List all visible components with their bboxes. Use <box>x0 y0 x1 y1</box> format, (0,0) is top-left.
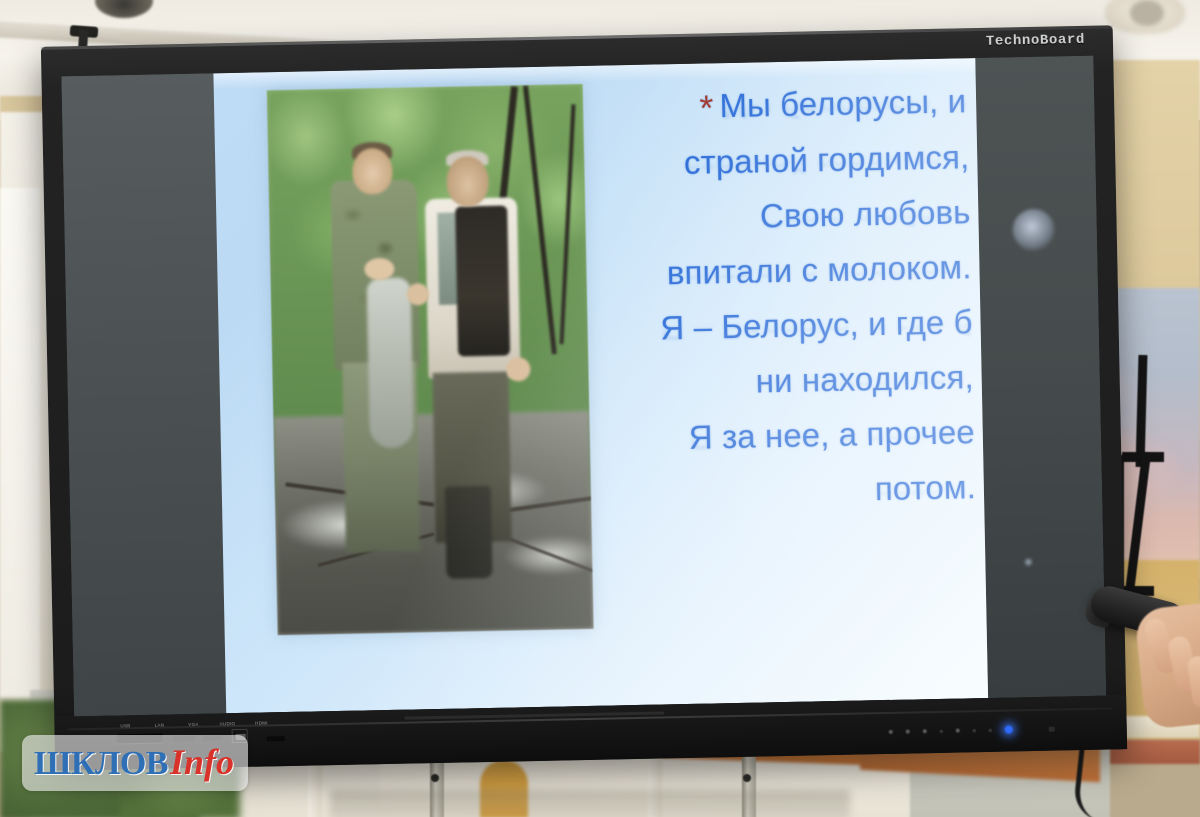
photo-fish <box>367 277 414 448</box>
status-led-6 <box>973 729 976 732</box>
slide-text-block: *Мы белорусы, иМы белорусы, и страной го… <box>586 82 977 533</box>
slide-line-8: потом.потом. <box>594 470 977 511</box>
slide-line-3: Свою любовьСвою любовь <box>588 195 971 236</box>
ir-receiver-window <box>1049 727 1055 732</box>
photo-person-right-vest <box>455 206 510 357</box>
port-label-hdmi: HDMI <box>250 720 272 725</box>
watermark-text-primary: ШКЛОВ <box>34 745 168 783</box>
status-led-4 <box>940 729 943 732</box>
status-led-1 <box>889 730 893 734</box>
slide-line-4: впитали с молоком.впитали с молоком. <box>589 250 972 291</box>
slide-line-6-text: ни находился, <box>755 358 974 399</box>
power-led[interactable] <box>1005 725 1013 733</box>
presentation-slide[interactable]: *Мы белорусы, иМы белорусы, и страной го… <box>213 58 988 713</box>
slide-line-6: ни находился,ни находился, <box>591 360 974 401</box>
slide-line-4-text: впитали с молоком. <box>667 248 972 291</box>
photo-person-right-head <box>446 156 489 207</box>
board-bezel: TechnoBoard <box>41 25 1127 770</box>
interactive-whiteboard[interactable]: TechnoBoard <box>41 25 1127 770</box>
slide-line-2: страной гордимся,страной гордимся, <box>587 140 970 181</box>
slide-line-1: *Мы белорусы, иМы белорусы, и <box>586 82 969 126</box>
slide-line-3-text: Свою любовь <box>760 193 971 234</box>
slide-line-5-text: Я – Белорус, и где б <box>660 303 973 346</box>
stand-base-shadow <box>330 790 850 817</box>
display-panel[interactable]: *Мы белорусы, иМы белорусы, и страной го… <box>61 56 1106 717</box>
status-led-3 <box>923 729 927 733</box>
port-label-lan: LAN <box>148 722 170 727</box>
slide-line-7-text: Я за нее, а прочее <box>688 413 975 456</box>
ceiling-light-bulb-right <box>1130 0 1164 26</box>
port-label-audio: AUDIO <box>216 721 238 726</box>
status-led-2 <box>906 730 910 734</box>
port-slot-hdmi[interactable] <box>267 736 285 741</box>
photo-person-left-head <box>352 148 393 195</box>
watermark-text-secondary: Info <box>170 741 234 783</box>
slide-line-2-text: страной гордимся, <box>684 138 970 181</box>
slide-photo <box>267 84 594 635</box>
indicator-led-row <box>889 725 1013 735</box>
slide-line-5: Я – Белорус, и где бЯ – Белорус, и где б <box>590 305 973 346</box>
port-label-usb: USB <box>114 723 136 728</box>
letterbox-right <box>975 56 1106 698</box>
slide-line-1-text: Мы белорусы, и <box>719 82 966 124</box>
status-led-7 <box>989 728 992 731</box>
wall-left-panel <box>0 188 40 698</box>
slide-line-8-text: потом. <box>874 468 976 507</box>
photo-person-right-boot <box>445 486 493 579</box>
port-label-vga: VGA <box>182 722 204 727</box>
slide-line-7: Я за нее, а прочееЯ за нее, а прочее <box>593 415 976 456</box>
letterbox-left <box>61 73 226 716</box>
power-cable <box>1072 744 1114 817</box>
status-led-5 <box>956 729 960 733</box>
asterisk-bullet-icon: * <box>699 87 714 128</box>
watermark-logo: ШКЛОВ Info <box>22 735 248 791</box>
brand-label: TechnoBoard <box>986 32 1085 50</box>
